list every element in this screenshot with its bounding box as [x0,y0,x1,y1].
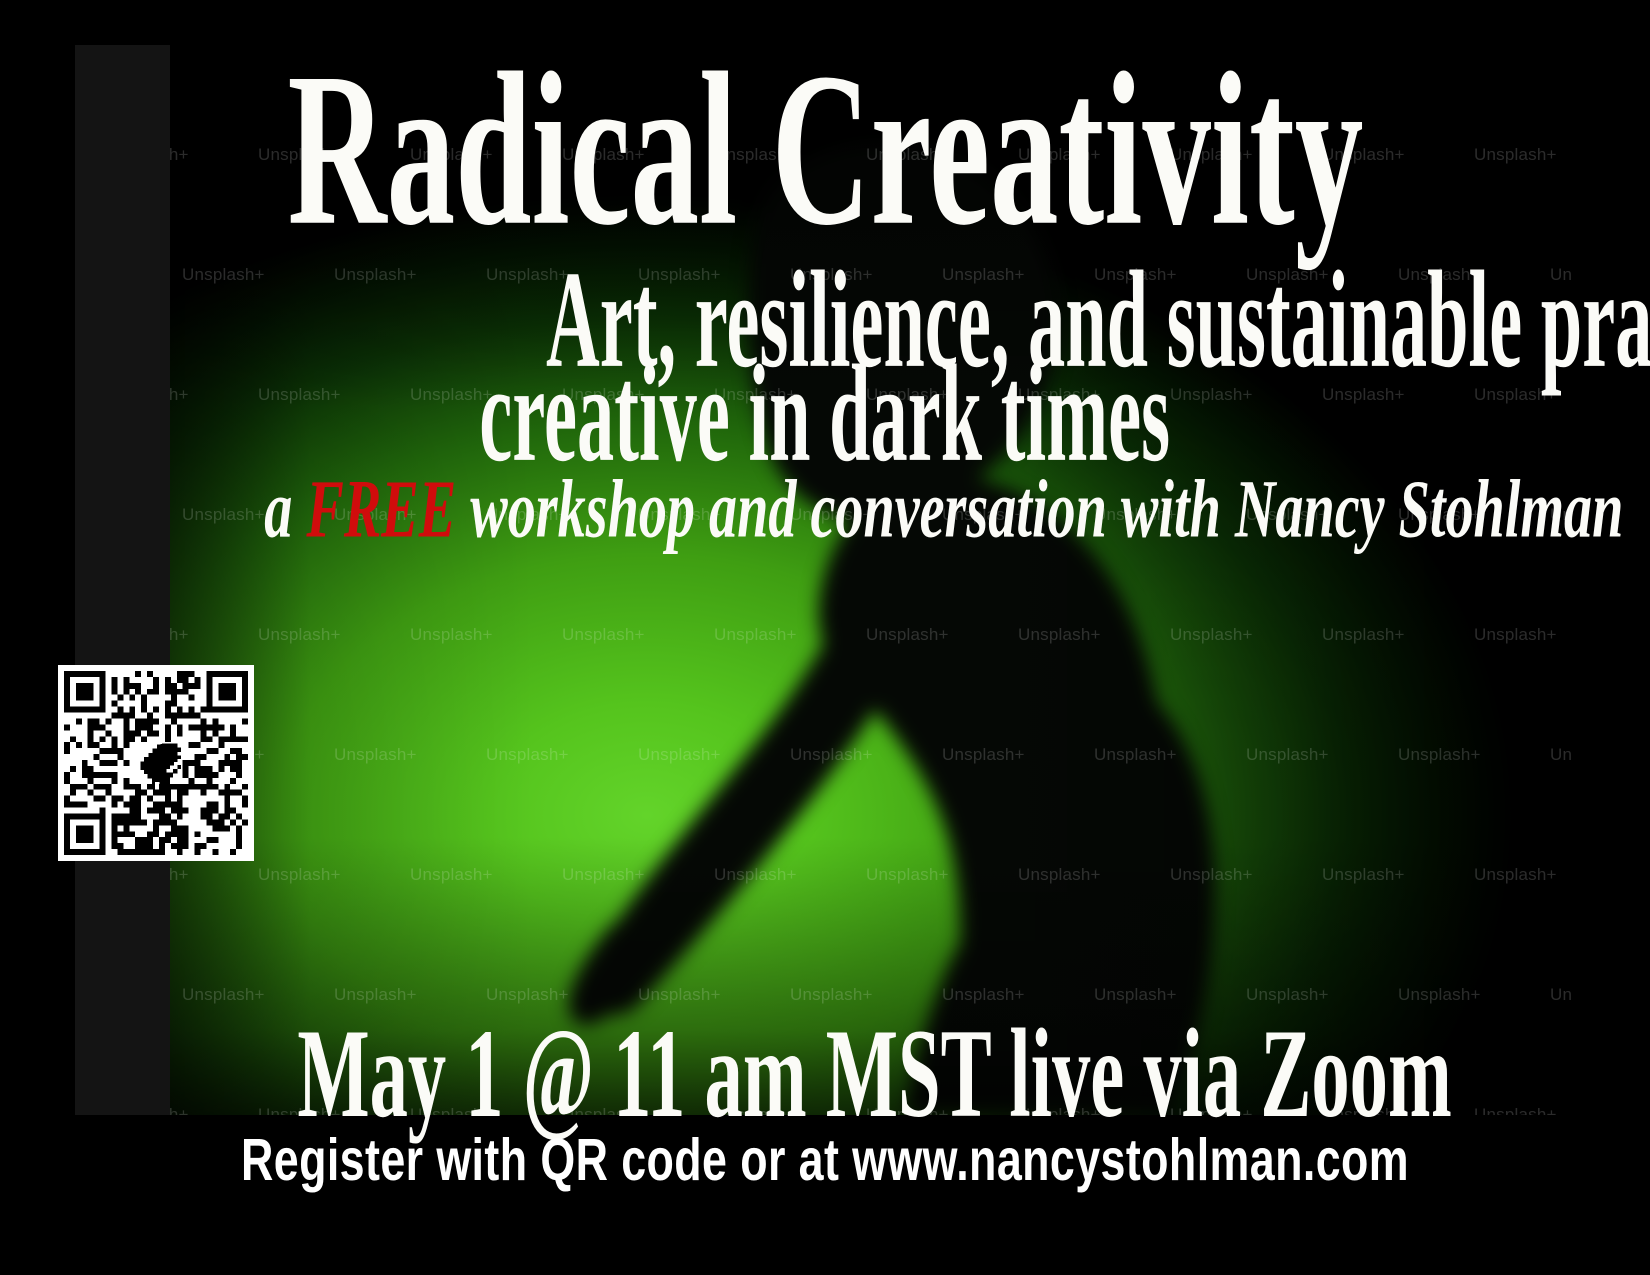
page-title-text: Radical Creativity [287,40,1363,260]
tagline: a FREE workshop and conversation with Na… [0,470,1650,548]
page-title: Radical Creativity [0,52,1650,248]
subtitle-line-2: creative in dark times [0,352,1650,476]
tagline-suffix: workshop and conversation with Nancy Sto… [456,462,1623,554]
register-instructions: Register with QR code or at www.nancysto… [0,1132,1650,1188]
tagline-inner: a FREE workshop and conversation with Na… [264,468,1623,551]
text-layer: Radical Creativity Art, resilience, and … [0,0,1650,1275]
event-datetime-text: May 1 @ 11 am MST live via Zoom [297,1010,1451,1138]
poster-canvas: Unsplash+Unsplash+Unsplash+Unsplash+Unsp… [0,0,1650,1275]
register-instructions-text: Register with QR code or at www.nancysto… [241,1130,1409,1189]
tagline-prefix: a [264,462,306,554]
qr-code[interactable] [58,665,254,861]
event-datetime: May 1 @ 11 am MST live via Zoom [0,1016,1650,1132]
free-highlight: FREE [306,462,456,554]
